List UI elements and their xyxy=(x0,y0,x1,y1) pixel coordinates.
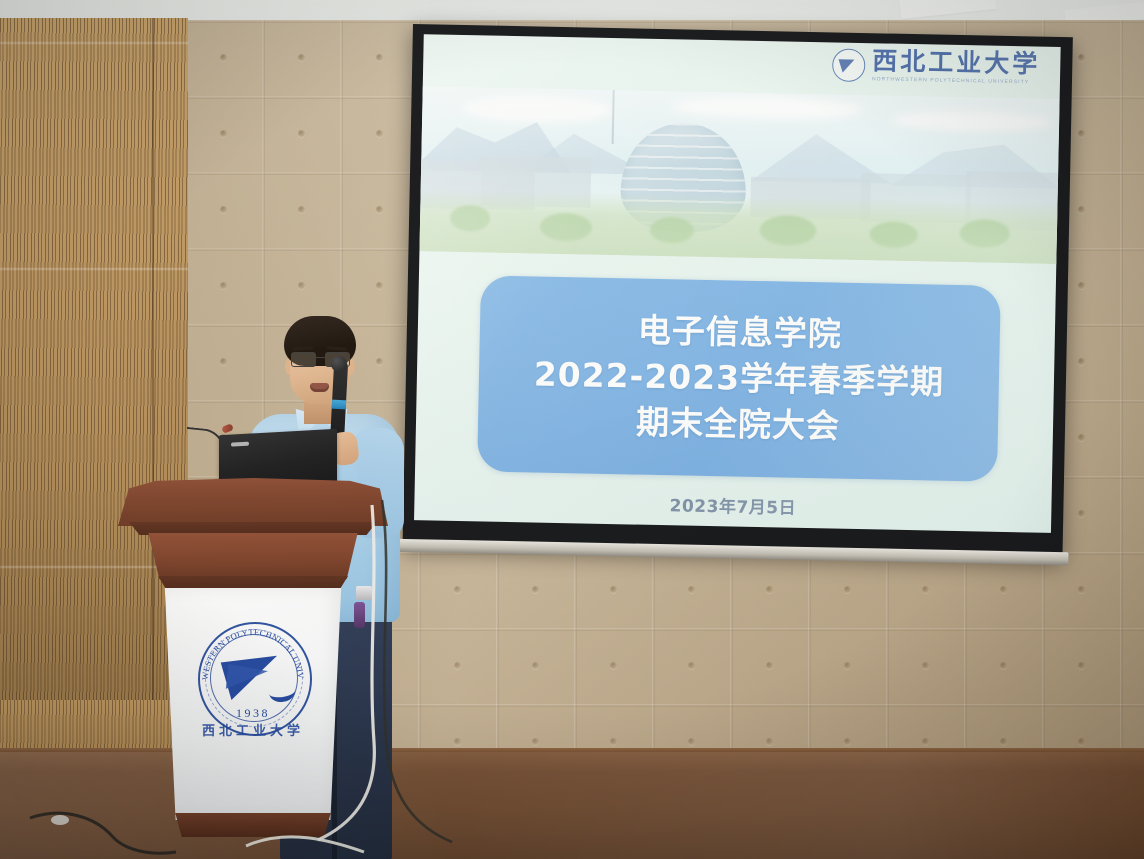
panel-button-dot xyxy=(376,54,383,61)
panel-button-dot xyxy=(1000,662,1007,669)
panel-button-dot xyxy=(298,130,305,137)
slide-campus-photo xyxy=(419,86,1059,264)
npu-logo: 西北工业大学 NORTHWESTERN POLYTECHNICAL UNIVER… xyxy=(832,47,1041,85)
panel-button-dot xyxy=(298,54,305,61)
podium-front-panel: NORTHWESTERN POLYTECHNICAL UNIVERSITY 19… xyxy=(163,588,343,820)
panel-button-dot xyxy=(610,586,617,593)
panel-button-dot xyxy=(532,586,539,593)
panel-button-dot xyxy=(1078,130,1085,137)
slide-title-line-2: 2022-2023学年春季学期 xyxy=(533,353,944,403)
wood-seam xyxy=(0,42,188,44)
emblem-chinese: 西北工业大学 xyxy=(195,720,311,739)
podium-base xyxy=(172,813,334,837)
panel-button-dot xyxy=(376,282,383,289)
panel-button-dot xyxy=(220,358,227,365)
panel-button-dot xyxy=(220,206,227,213)
podium-top xyxy=(118,478,388,526)
emblem-year: 1938 xyxy=(195,706,311,721)
npu-seal-icon xyxy=(832,48,866,82)
photo-haze xyxy=(419,86,1059,264)
slide-title-line-3: 期末全院大会 xyxy=(636,402,841,448)
panel-button-dot xyxy=(220,54,227,61)
panel-button-dot xyxy=(1078,282,1085,289)
lens-left xyxy=(291,352,316,367)
slide-title-line-1: 电子信息学院 xyxy=(637,309,842,355)
panel-button-dot xyxy=(766,662,773,669)
microphone-head xyxy=(331,356,347,372)
panel-button-dot xyxy=(922,738,929,745)
panel-button-dot xyxy=(376,130,383,137)
podium: NORTHWESTERN POLYTECHNICAL UNIVERSITY 19… xyxy=(118,478,388,859)
panel-button-dot xyxy=(844,586,851,593)
panel-button-dot xyxy=(610,662,617,669)
speaker-mouth xyxy=(310,383,329,392)
podium-mid xyxy=(144,533,362,579)
panel-button-dot xyxy=(610,738,617,745)
panel-button-dot xyxy=(1000,738,1007,745)
screen-surface: 西北工业大学 NORTHWESTERN POLYTECHNICAL UNIVER… xyxy=(414,34,1061,533)
emblem-wing-secondary xyxy=(226,664,268,693)
panel-button-dot xyxy=(922,586,929,593)
panel-button-dot xyxy=(1078,662,1085,669)
slide-title-card: 电子信息学院 2022-2023学年春季学期 期末全院大会 xyxy=(477,275,1001,481)
panel-button-dot xyxy=(220,130,227,137)
panel-button-dot xyxy=(1078,738,1085,745)
panel-button-dot xyxy=(688,738,695,745)
panel-button-dot xyxy=(454,586,461,593)
lecture-hall-photo: 西北工业大学 NORTHWESTERN POLYTECHNICAL UNIVER… xyxy=(0,0,1144,859)
panel-button-dot xyxy=(532,738,539,745)
panel-button-dot xyxy=(298,282,305,289)
panel-button-dot xyxy=(922,662,929,669)
panel-button-dot xyxy=(1000,586,1007,593)
panel-button-dot xyxy=(1078,54,1085,61)
panel-button-dot xyxy=(844,738,851,745)
panel-button-dot xyxy=(1078,358,1085,365)
panel-button-dot xyxy=(766,586,773,593)
npu-logo-chinese: 西北工业大学 xyxy=(872,48,1040,76)
panel-button-dot xyxy=(688,586,695,593)
laptop-badge xyxy=(231,442,249,447)
microphone-blue-ring xyxy=(332,400,346,410)
panel-button-dot xyxy=(1078,586,1085,593)
panel-button-dot xyxy=(454,662,461,669)
panel-button-dot xyxy=(454,738,461,745)
panel-button-dot xyxy=(1078,434,1085,441)
projection-screen: 西北工业大学 NORTHWESTERN POLYTECHNICAL UNIVER… xyxy=(403,24,1073,559)
panel-button-dot xyxy=(688,662,695,669)
glasses-bridge xyxy=(314,357,325,358)
wood-seam xyxy=(0,268,188,270)
panel-button-dot xyxy=(766,738,773,745)
slide-date: 2023年7月5日 xyxy=(414,486,1051,524)
panel-button-dot xyxy=(532,662,539,669)
panel-button-dot xyxy=(298,206,305,213)
panel-button-dot xyxy=(1078,510,1085,517)
panel-button-dot xyxy=(844,662,851,669)
panel-button-dot xyxy=(1078,206,1085,213)
panel-button-dot xyxy=(376,206,383,213)
npu-emblem: NORTHWESTERN POLYTECHNICAL UNIVERSITY 19… xyxy=(195,610,311,750)
panel-button-dot xyxy=(220,282,227,289)
